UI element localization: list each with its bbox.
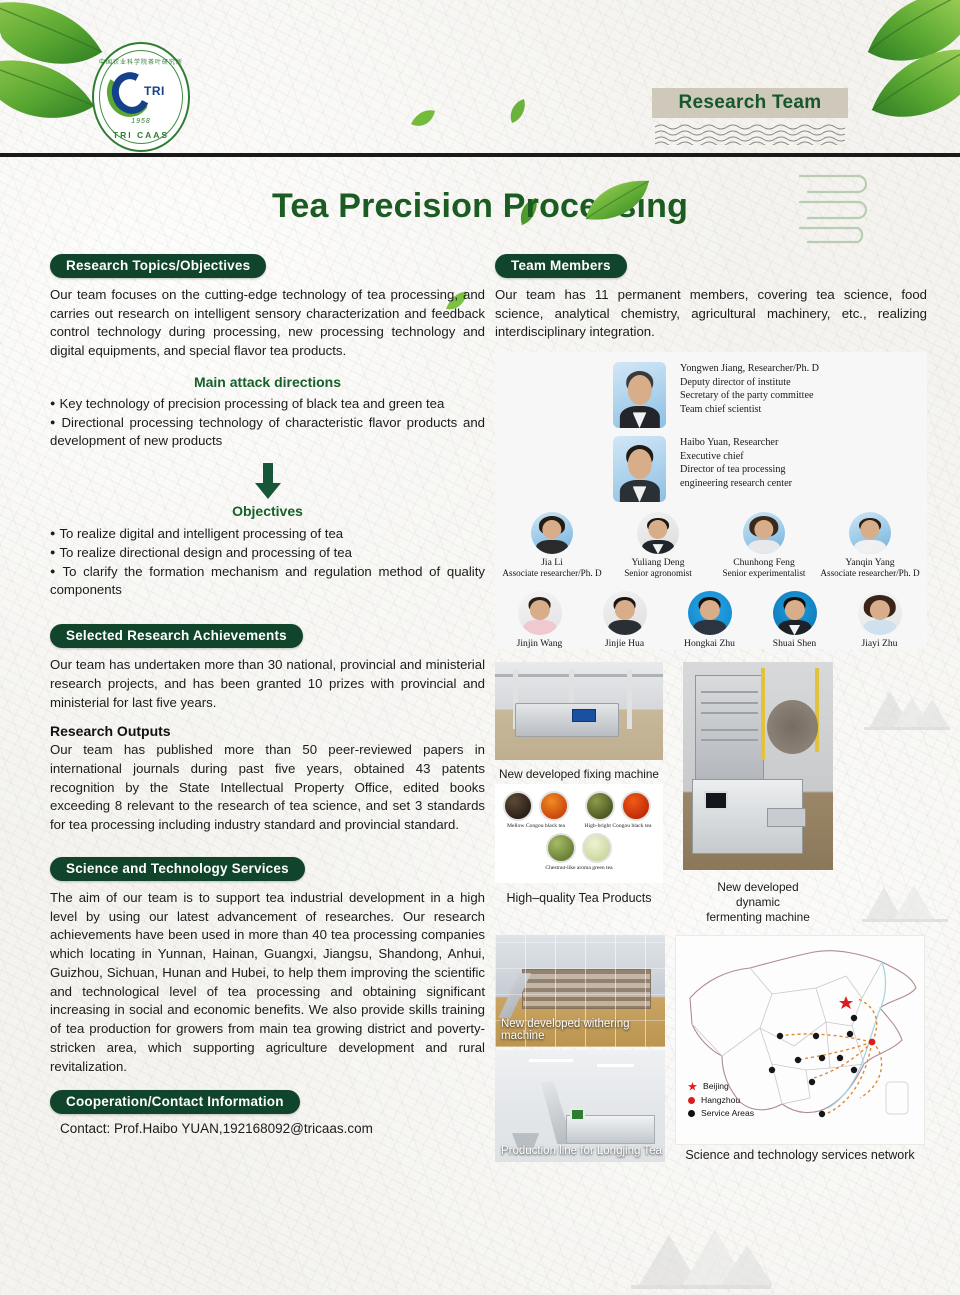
photo-fixing-machine xyxy=(495,662,663,760)
touch-screen xyxy=(704,791,728,810)
pillar xyxy=(627,670,632,729)
tea-product: High-bright Congou black tea xyxy=(578,791,658,829)
photo-tea-products: Mellow Congou black tea High-bright Cong… xyxy=(495,784,663,883)
legend-label: Beijing xyxy=(703,1080,729,1093)
down-arrow-wrapper xyxy=(50,463,485,499)
logo-acronym: TRI xyxy=(144,84,165,98)
caption-fermenting-machine: New developed dynamic fermenting machine xyxy=(673,880,843,924)
legend-label: Hangzhou xyxy=(701,1094,740,1107)
vent-slot xyxy=(701,702,758,704)
avatar xyxy=(637,512,679,554)
logo-chinese-text: 中国农业科学院茶叶研究所 xyxy=(92,57,190,66)
team-member: Hongkai Zhu Research assistant/Ph. D xyxy=(667,591,752,649)
tea-product-label: High-bright Congou black tea xyxy=(578,823,658,829)
leader-title-line: Executive chief xyxy=(680,450,792,464)
objective-item: To clarify the formation mechanism and r… xyxy=(50,563,485,600)
member-name: Jinjie Hua xyxy=(605,638,644,649)
badge-research-topics: Research Topics/Objectives xyxy=(50,254,266,278)
logo-institute: TRI CAAS xyxy=(92,130,190,140)
member-name: Jia Li xyxy=(541,557,563,568)
left-column: Research Topics/Objectives Our team focu… xyxy=(50,254,485,1136)
team-senior-row: Jia Li Associate researcher/Ph. D Yulian… xyxy=(495,502,927,579)
tea-liquor-sample xyxy=(539,791,569,821)
team-members-panel: Yongwen Jiang, Researcher/Ph. D Deputy d… xyxy=(495,352,927,649)
badge-cooperation-contact: Cooperation/Contact Information xyxy=(50,1090,300,1114)
badge-science-technology-services: Science and Technology Services xyxy=(50,857,305,881)
avatar xyxy=(858,591,902,635)
main-attack-directions-heading: Main attack directions xyxy=(50,374,485,390)
leader-title-line: Deputy director of institute xyxy=(680,376,819,390)
legend-label: Service Areas xyxy=(701,1107,754,1120)
team-assistants-row: Jinjin Wang Research assistant Jinjie Hu… xyxy=(495,579,927,649)
member-name: Jiayi Zhu xyxy=(862,638,898,649)
caption-fixing-machine: New developed fixing machine xyxy=(495,767,663,782)
photo-fermenting-machine xyxy=(683,662,833,870)
member-role: Senior agronomist xyxy=(624,568,692,579)
avatar xyxy=(518,591,562,635)
legend-item-hangzhou: Hangzhou xyxy=(688,1094,754,1107)
floating-leaf-icon-1 xyxy=(410,108,436,130)
tea-products-row: Chestnut-like aroma green tea xyxy=(495,833,663,871)
tea-leaves-sample xyxy=(503,791,533,821)
team-leader-info: Haibo Yuan, Researcher Executive chief D… xyxy=(680,436,792,490)
legend-item-service-areas: Service Areas xyxy=(688,1107,754,1120)
member-name: Hongkai Zhu xyxy=(684,638,735,649)
badge-team-members: Team Members xyxy=(495,254,627,278)
tea-leaves-sample xyxy=(546,833,576,863)
machine-control-panel xyxy=(572,709,596,722)
avatar xyxy=(773,591,817,635)
badge-selected-research-achievements: Selected Research Achievements xyxy=(50,624,303,648)
mountain-decoration-3 xyxy=(625,1215,775,1295)
team-member: Yuliang Deng Senior agronomist xyxy=(605,512,711,579)
services-paragraph: The aim of our team is to support tea in… xyxy=(50,889,485,1076)
star-icon xyxy=(688,1082,697,1091)
team-members-paragraph: Our team has 11 permanent members, cover… xyxy=(495,286,927,342)
research-topics-paragraph: Our team focuses on the cutting-edge tec… xyxy=(50,286,485,361)
tea-sample-pair xyxy=(539,833,619,863)
team-member: Jia Li Associate researcher/Ph. D xyxy=(499,512,605,579)
objective-item: To realize digital and intelligent proce… xyxy=(50,525,485,544)
vent-slot xyxy=(701,739,758,741)
member-role: Associate researcher/Ph. D xyxy=(820,568,919,579)
leader-name: Yongwen Jiang, Researcher/Ph. D xyxy=(680,362,819,376)
caption-services-network: Science and technology services network xyxy=(675,1148,925,1164)
logo-year: 1958 xyxy=(92,118,190,125)
objectives-heading: Objectives xyxy=(50,503,485,519)
research-outputs-paragraph: Our team has published more than 50 peer… xyxy=(50,741,485,835)
objective-item: To realize directional design and proces… xyxy=(50,544,485,563)
vent-slot xyxy=(701,691,758,693)
section-tag-research-team: Research Team xyxy=(652,88,848,118)
services-photo-group: New developed withering machine Producti… xyxy=(495,935,927,1170)
tea-product: Chestnut-like aroma green tea xyxy=(539,833,619,871)
tea-product-label: Chestnut-like aroma green tea xyxy=(539,865,619,871)
avatar xyxy=(613,362,666,428)
avatar xyxy=(531,512,573,554)
tea-product: Mellow Congou black tea xyxy=(500,791,572,829)
ceiling-light xyxy=(529,1059,573,1062)
team-leader-info: Yongwen Jiang, Researcher/Ph. D Deputy d… xyxy=(680,362,819,416)
leader-title-line: Team chief scientist xyxy=(680,403,819,417)
title-leaf-icon xyxy=(585,179,651,223)
mountain-decoration-1 xyxy=(860,677,955,735)
tea-sample-pair xyxy=(500,791,572,821)
rail xyxy=(761,668,765,760)
avatar xyxy=(743,512,785,554)
machine-body xyxy=(515,703,619,736)
member-name: Chunhong Feng xyxy=(733,557,795,568)
member-name: Shuai Shen xyxy=(773,638,816,649)
member-role: Senior experimentalist xyxy=(723,568,806,579)
map-legend: Beijing Hangzhou Service Areas xyxy=(688,1080,754,1120)
team-member: Jiayi Zhu Research assistant xyxy=(837,591,922,649)
drum-wheel xyxy=(767,700,818,754)
ceiling-beam xyxy=(495,674,663,677)
tea-leaves-sample xyxy=(585,791,615,821)
output-tray xyxy=(767,808,806,827)
caption-longjing-line: Production line for Longjing Tea xyxy=(501,1145,662,1157)
photo-longjing-production-line: Production line for Longjing Tea xyxy=(495,1050,665,1162)
avatar xyxy=(613,436,666,502)
tea-sample-pair xyxy=(578,791,658,821)
team-member: Jinjin Wang Research assistant xyxy=(497,591,582,649)
page-title: Tea Precision Processing xyxy=(0,187,960,226)
member-role: Associate researcher/Ph. D xyxy=(502,568,601,579)
member-name: Yuliang Deng xyxy=(631,557,684,568)
direction-item: Directional processing technology of cha… xyxy=(50,414,485,451)
wave-decoration xyxy=(655,123,845,145)
photo-withering-machine: New developed withering machine xyxy=(495,935,665,1047)
poster-header: 中国农业科学院茶叶研究所 TRI 1958 TRI CAAS Research … xyxy=(0,0,960,157)
avatar xyxy=(849,512,891,554)
team-leader-row: Yongwen Jiang, Researcher/Ph. D Deputy d… xyxy=(495,352,927,428)
leader-title-line: Director of tea processing xyxy=(680,463,792,477)
mountain-decoration-2 xyxy=(858,869,953,927)
leader-name: Haibo Yuan, Researcher xyxy=(680,436,792,450)
ceiling-light xyxy=(597,1064,634,1067)
team-member: Chunhong Feng Senior experimentalist xyxy=(711,512,817,579)
team-leader-row: Haibo Yuan, Researcher Executive chief D… xyxy=(495,428,927,502)
member-name: Jinjin Wang xyxy=(517,638,563,649)
research-outputs-heading: Research Outputs xyxy=(50,723,485,739)
arrow-down-icon xyxy=(255,463,281,499)
floating-leaf-icon-2 xyxy=(508,98,528,124)
black-dot-icon xyxy=(688,1110,695,1117)
avatar xyxy=(688,591,732,635)
photo-services-network-map: Beijing Hangzhou Service Areas xyxy=(675,935,925,1145)
achievements-paragraph: Our team has undertaken more than 30 nat… xyxy=(50,656,485,712)
avatar xyxy=(603,591,647,635)
main-attack-directions-list: Key technology of precision processing o… xyxy=(50,395,485,451)
leader-title-line: Secretary of the party committee xyxy=(680,389,819,403)
contact-information: Contact: Prof.Haibo YUAN,192168092@trica… xyxy=(50,1121,485,1136)
poster-body: Tea Precision Processing Research Topics… xyxy=(0,157,960,1293)
vent-slot xyxy=(701,729,758,731)
legend-item-beijing: Beijing xyxy=(688,1080,754,1093)
team-member: Yanqin Yang Associate researcher/Ph. D xyxy=(817,512,923,579)
leader-title-line: engineering research center xyxy=(680,477,792,491)
team-member: Shuai Shen Research assistant xyxy=(752,591,837,649)
control-box xyxy=(570,1108,585,1120)
caption-tea-products: High–quality Tea Products xyxy=(495,891,663,907)
tri-caas-logo: 中国农业科学院茶叶研究所 TRI 1958 TRI CAAS xyxy=(92,42,190,152)
tea-liquor-sample xyxy=(621,791,651,821)
tea-product-label: Mellow Congou black tea xyxy=(500,823,572,829)
rail xyxy=(815,668,819,751)
tea-products-row: Mellow Congou black tea High-bright Cong… xyxy=(495,791,663,829)
red-dot-icon xyxy=(688,1097,695,1104)
vent-slot xyxy=(701,712,758,714)
team-member: Jinjie Hua Research assistant xyxy=(582,591,667,649)
caption-withering-machine: New developed withering machine xyxy=(501,1018,665,1042)
member-name: Yanqin Yang xyxy=(845,557,894,568)
objectives-list: To realize digital and intelligent proce… xyxy=(50,525,485,600)
direction-item: Key technology of precision processing o… xyxy=(50,395,485,414)
tea-liquor-sample xyxy=(582,833,612,863)
